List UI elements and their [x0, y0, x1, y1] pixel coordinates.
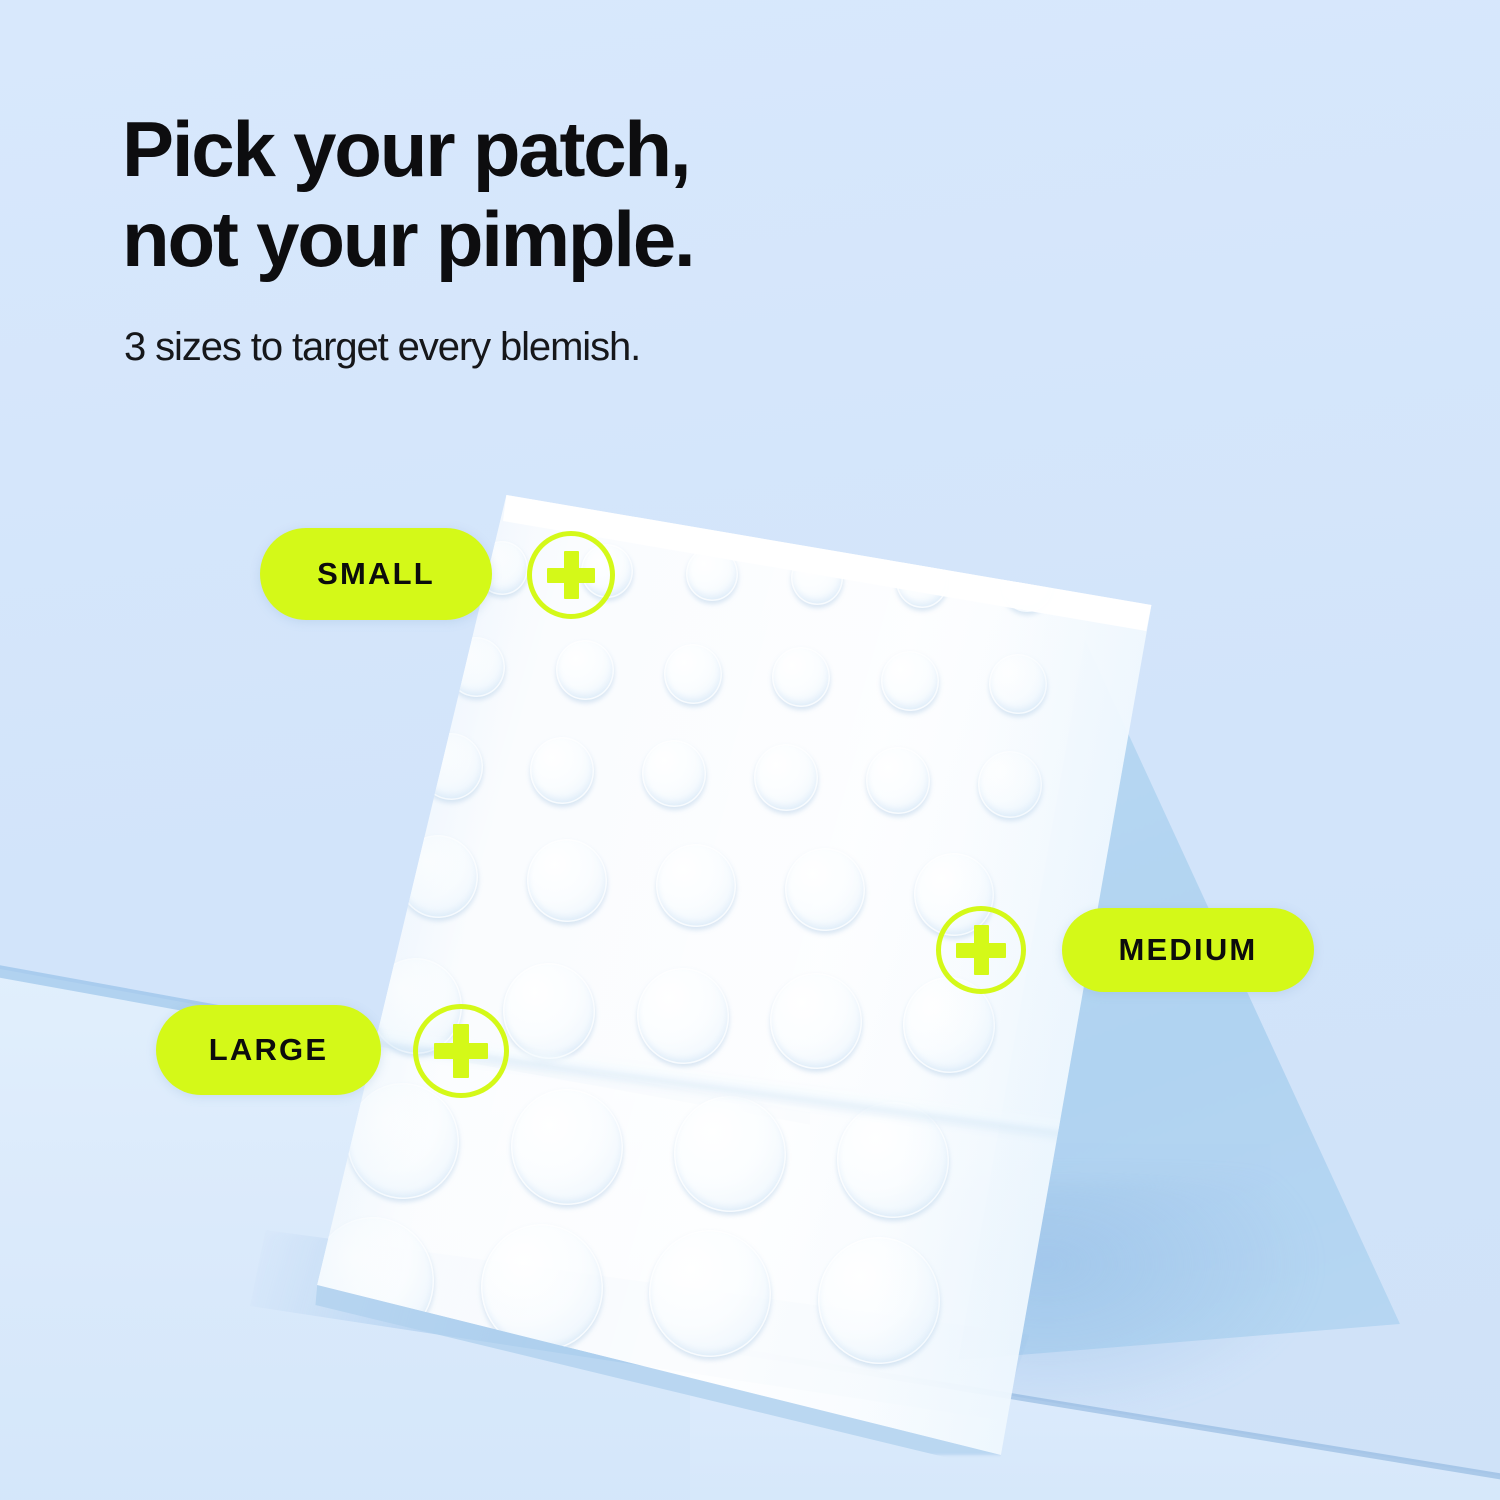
- patch-dot: [395, 832, 481, 921]
- patch-dot: [507, 1085, 627, 1209]
- patch-dot: [633, 965, 731, 1067]
- patch-dot: [813, 1233, 944, 1368]
- plus-circle-icon-small: [527, 531, 615, 619]
- plus-bar-vertical: [564, 551, 579, 599]
- plus-bar-vertical: [974, 925, 989, 975]
- patch-dot: [653, 841, 739, 930]
- page-title: Pick your patch, not your pimple.: [122, 104, 942, 285]
- patch-dot: [975, 749, 1043, 820]
- patch-dot: [528, 734, 596, 805]
- patch-dot: [554, 638, 616, 702]
- size-badge-medium[interactable]: MEDIUM: [1062, 908, 1314, 992]
- product-marketing-image: Pick your patch, not your pimple. 3 size…: [0, 0, 1500, 1500]
- subheadline: 3 sizes to target every blemish.: [124, 323, 942, 371]
- plus-bar-vertical: [453, 1024, 469, 1078]
- patch-dot: [770, 645, 832, 709]
- size-badge-small[interactable]: SMALL: [260, 528, 492, 620]
- size-badge-large-label: LARGE: [209, 1032, 329, 1068]
- patch-dot: [662, 642, 724, 706]
- patch-dot: [645, 1226, 776, 1361]
- size-badge-large[interactable]: LARGE: [156, 1005, 381, 1095]
- patch-dot: [833, 1098, 953, 1222]
- patch-dot: [670, 1092, 790, 1216]
- patch-dot: [445, 635, 507, 699]
- patch-dot: [879, 649, 941, 713]
- size-badge-medium-label: MEDIUM: [1119, 932, 1258, 968]
- patch-dot: [767, 970, 865, 1072]
- size-badge-small-label: SMALL: [317, 556, 435, 592]
- patch-dot: [524, 837, 610, 926]
- patch-dot: [752, 742, 820, 813]
- patch-dot: [863, 745, 931, 816]
- plus-circle-icon-large: [413, 1004, 509, 1098]
- patch-dot: [782, 846, 868, 935]
- patch-dot: [640, 738, 708, 809]
- patch-dot: [987, 652, 1049, 716]
- patch-dot: [416, 731, 484, 802]
- patch-dot: [500, 960, 598, 1062]
- plus-circle-icon-medium: [936, 906, 1026, 994]
- copy-block: Pick your patch, not your pimple. 3 size…: [122, 104, 942, 371]
- patch-dot: [343, 1079, 463, 1203]
